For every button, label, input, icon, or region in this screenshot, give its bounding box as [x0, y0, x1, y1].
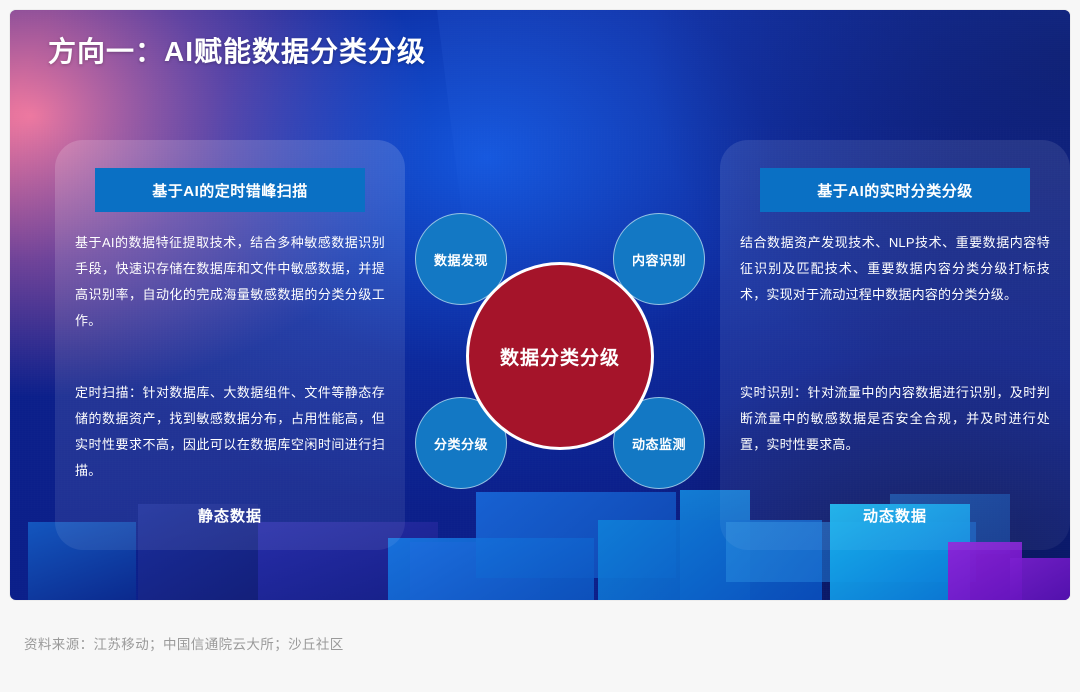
- panel-static-data: 基于AI的定时错峰扫描 基于AI的数据特征提取技术，结合多种敏感数据识别手段，快…: [55, 140, 405, 550]
- right-panel-footer-label: 动态数据: [720, 505, 1070, 526]
- left-panel-paragraph-top: 基于AI的数据特征提取技术，结合多种敏感数据识别手段，快速识存储在数据库和文件中…: [75, 230, 385, 334]
- page-title: 方向一：AI赋能数据分类分级: [48, 30, 426, 70]
- left-panel-paragraph-bottom: 定时扫描：针对数据库、大数据组件、文件等静态存储的数据资产，找到敏感数据分布，占…: [75, 380, 385, 484]
- right-panel-badge: 基于AI的实时分类分级: [760, 168, 1030, 212]
- right-panel-paragraph-top: 结合数据资产发现技术、NLP技术、重要数据内容特征识别及匹配技术、重要数据内容分…: [740, 230, 1050, 308]
- left-panel-footer-label: 静态数据: [55, 505, 405, 526]
- right-panel-paragraph-bottom: 实时识别：针对流量中的内容数据进行识别，及时判断流量中的敏感数据是否安全合规，并…: [740, 380, 1050, 458]
- decor-block-6: [388, 538, 594, 600]
- left-panel-badge: 基于AI的定时错峰扫描: [95, 168, 365, 212]
- decor-block-11: [1010, 558, 1070, 600]
- source-citation: 资料来源：江苏移动；中国信通院云大所；沙丘社区: [24, 633, 344, 653]
- classification-diagram: 数据发现 内容识别 分类分级 动态监测 数据分类分级: [405, 205, 715, 505]
- panel-dynamic-data: 基于AI的实时分类分级 结合数据资产发现技术、NLP技术、重要数据内容特征识别及…: [720, 140, 1070, 550]
- slide-canvas: 方向一：AI赋能数据分类分级 基于AI的定时错峰扫描 基于AI的数据特征提取技术…: [10, 10, 1070, 600]
- diagram-core-label: 数据分类分级: [466, 262, 654, 450]
